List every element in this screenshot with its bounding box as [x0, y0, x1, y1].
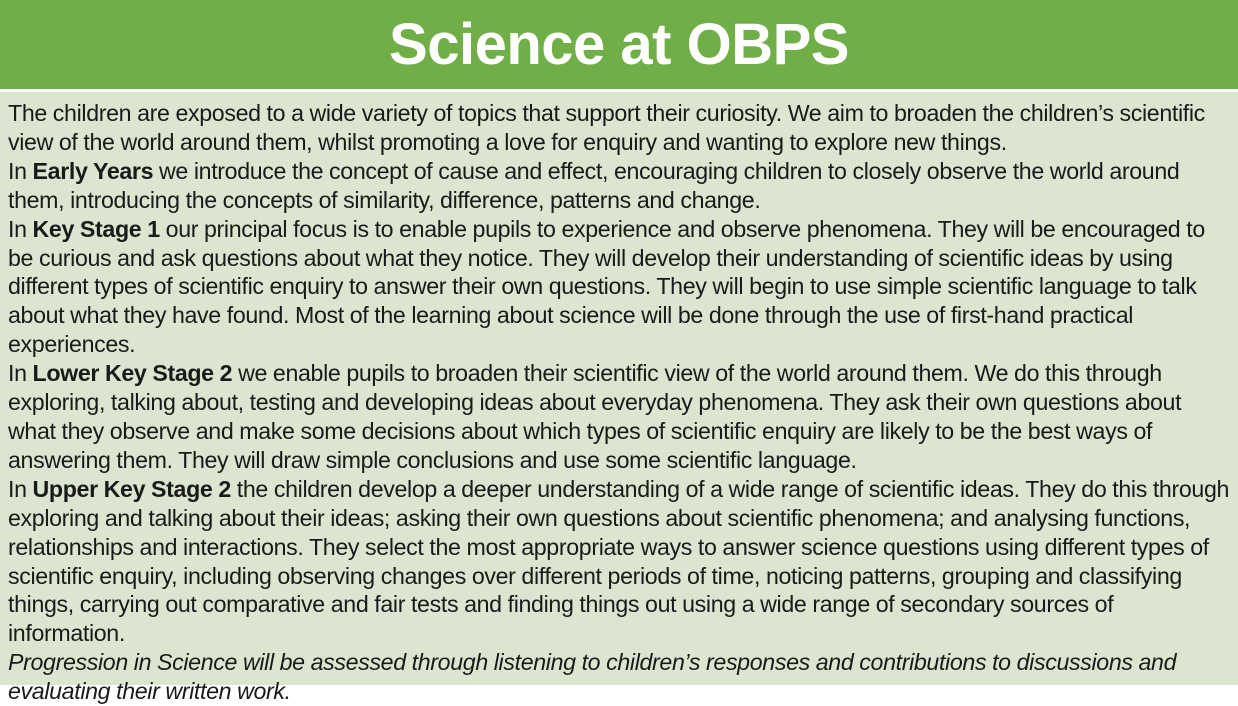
paragraph-text: Progression in Science will be assessed … [8, 649, 1176, 704]
key-stage-label: Upper Key Stage 2 [33, 476, 231, 502]
body-panel: The children are exposed to a wide varie… [0, 92, 1238, 685]
paragraph-text: our principal focus is to enable pupils … [8, 216, 1205, 358]
page-title: Science at OBPS [379, 16, 859, 74]
key-stage-label: Key Stage 1 [33, 216, 160, 242]
paragraph-text: In [8, 216, 33, 242]
title-banner: Science at OBPS [0, 0, 1238, 89]
paragraph-lower-key-stage-2: In Lower Key Stage 2 we enable pupils to… [8, 359, 1230, 475]
paragraph-text: In [8, 158, 33, 184]
body-text-block: The children are exposed to a wide varie… [8, 99, 1230, 706]
paragraph-assessment: Progression in Science will be assessed … [8, 648, 1230, 706]
paragraph-key-stage-1: In Key Stage 1 our principal focus is to… [8, 215, 1230, 360]
paragraph-text: In [8, 476, 33, 502]
paragraph-text: The children are exposed to a wide varie… [8, 100, 1205, 155]
slide-root: Science at OBPS The children are exposed… [0, 0, 1238, 685]
paragraph-text: In [8, 360, 33, 386]
paragraph-text: we introduce the concept of cause and ef… [8, 158, 1179, 213]
paragraph-early-years: In Early Years we introduce the concept … [8, 157, 1230, 215]
key-stage-label: Lower Key Stage 2 [33, 360, 233, 386]
key-stage-label: Early Years [33, 158, 154, 184]
paragraph-intro: The children are exposed to a wide varie… [8, 99, 1230, 157]
paragraph-upper-key-stage-2: In Upper Key Stage 2 the children develo… [8, 475, 1230, 648]
